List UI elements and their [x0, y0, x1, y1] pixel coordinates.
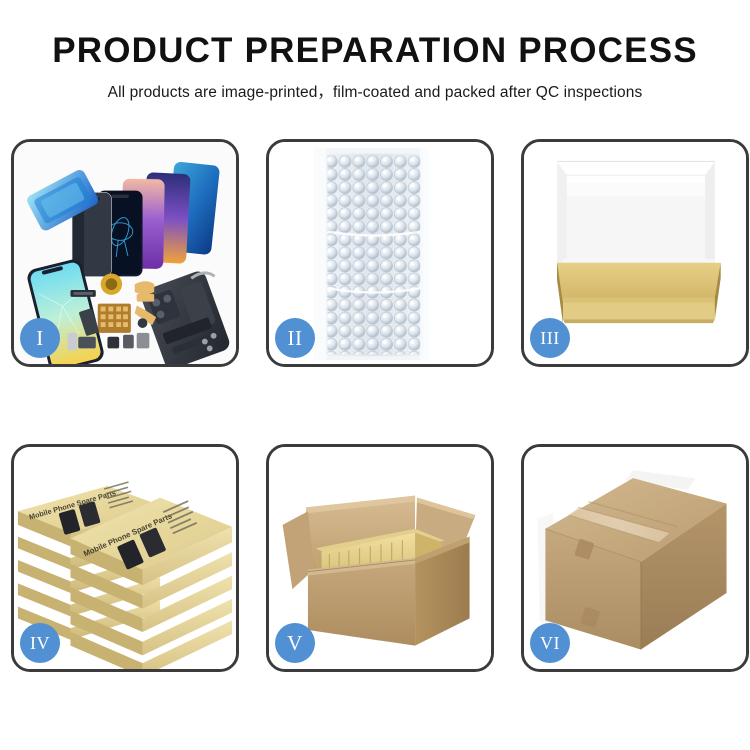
page-subtitle: All products are image-printed，film-coat…	[0, 70, 750, 102]
step-badge-6: VI	[530, 623, 570, 663]
step-panel-4: Mobile Phone Spare Parts	[11, 444, 239, 672]
step-badge-3: III	[530, 318, 570, 358]
header: PRODUCT PREPARATION PROCESS All products…	[0, 0, 750, 102]
step-badge-5: V	[275, 623, 315, 663]
step-panel-3: III	[521, 139, 749, 367]
product-preparation-infographic: PRODUCT PREPARATION PROCESS All products…	[0, 0, 750, 750]
steps-grid: I	[11, 139, 739, 685]
step-panel-5: V	[266, 444, 494, 672]
step-panel-1: I	[11, 139, 239, 367]
step-panel-6: VI	[521, 444, 749, 672]
step-panel-2: II	[266, 139, 494, 367]
step-badge-1: I	[20, 318, 60, 358]
step-badge-2: II	[275, 318, 315, 358]
step-badge-4: IV	[20, 623, 60, 663]
page-title: PRODUCT PREPARATION PROCESS	[0, 0, 750, 70]
